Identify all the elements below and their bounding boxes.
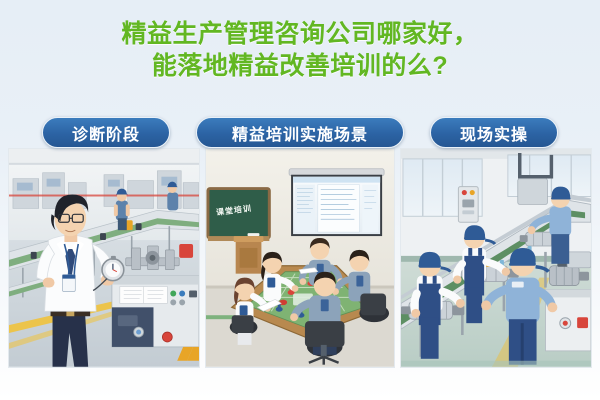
title-line-1: 精益生产管理咨询公司哪家好， (0, 18, 600, 50)
practice-illustration (401, 149, 591, 367)
badge-training[interactable]: 精益培训实施场景 (196, 117, 404, 148)
diagnosis-illustration (9, 149, 199, 367)
training-illustration (206, 149, 394, 367)
projector-screen (289, 169, 384, 236)
poster-canvas: 精益生产管理咨询公司哪家好， 能落地精益改善培训的么? 诊断阶段 精益培训实施场… (0, 0, 600, 400)
badge-row: 诊断阶段 精益培训实施场景 现场实操 (0, 117, 600, 149)
panel-practice[interactable] (400, 148, 592, 368)
panel-diagnosis[interactable] (8, 148, 200, 368)
wall-control-box (458, 187, 478, 223)
panel-training[interactable]: 课堂培训 (205, 148, 395, 368)
poster-title: 精益生产管理咨询公司哪家好， 能落地精益改善培训的么? (0, 18, 600, 82)
badge-practice[interactable]: 现场实操 (430, 117, 558, 148)
podium (234, 236, 264, 274)
title-line-2: 能落地精益改善培训的么? (0, 50, 600, 82)
badge-diagnosis[interactable]: 诊断阶段 (42, 117, 170, 148)
panel-row: 课堂培训 (8, 148, 592, 368)
background-worker-2 (167, 182, 178, 211)
